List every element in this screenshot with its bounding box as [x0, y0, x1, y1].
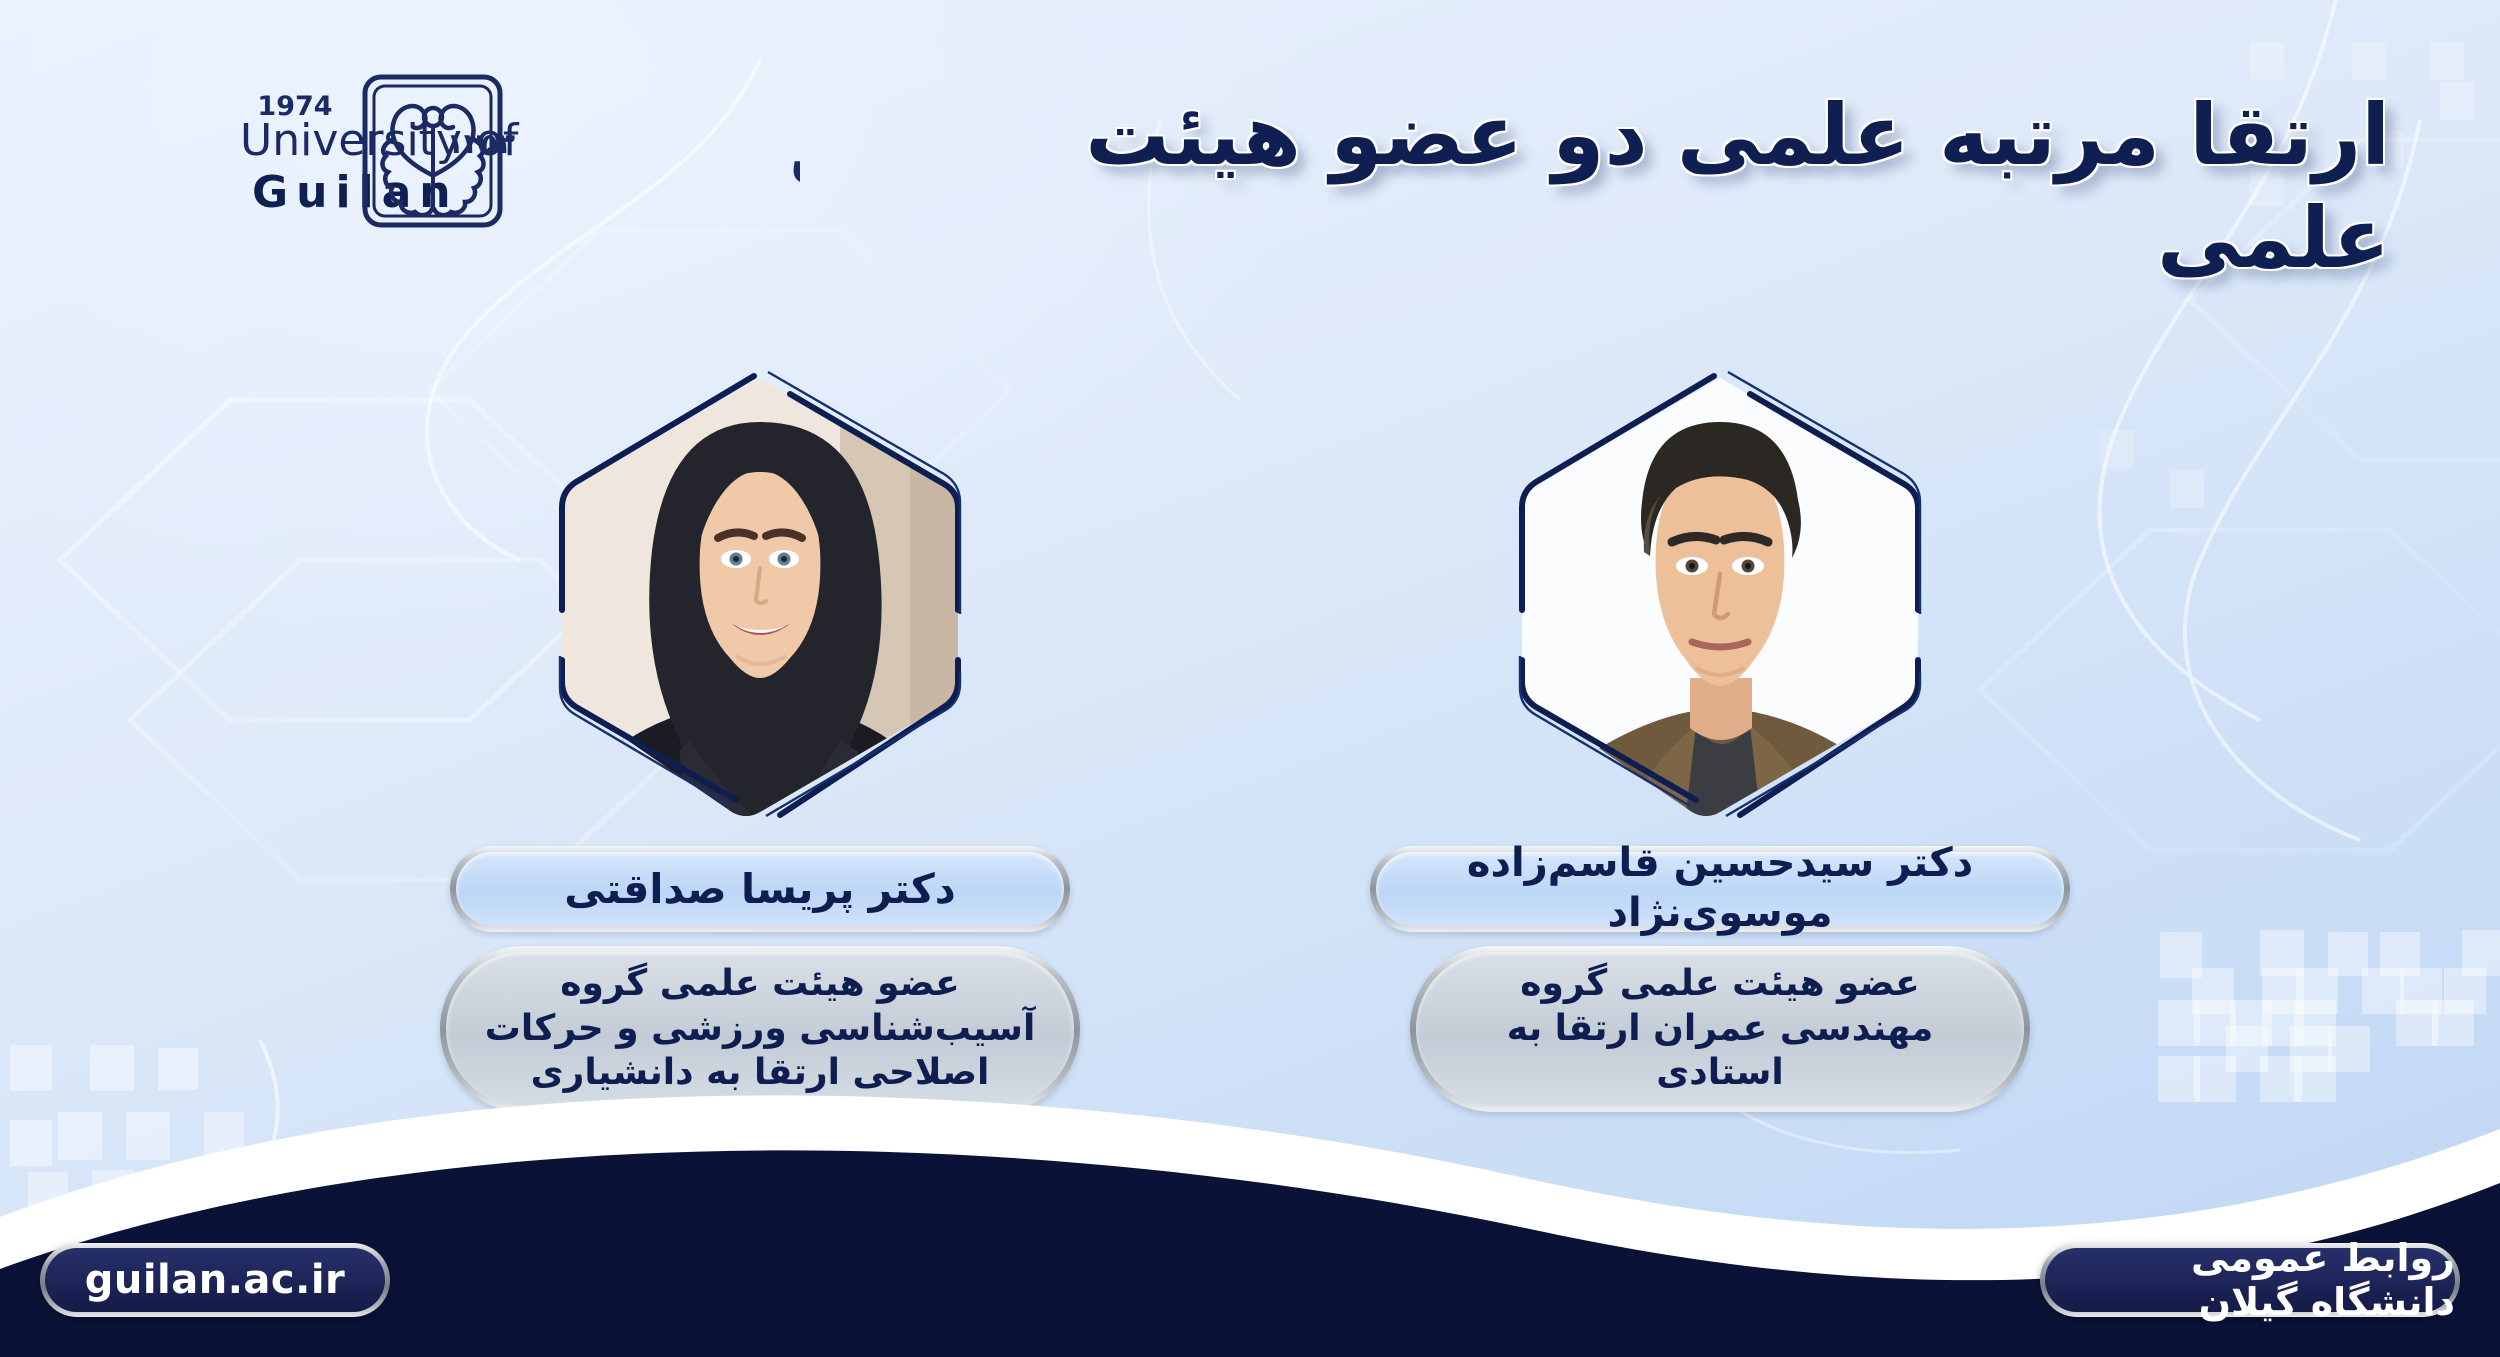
website-label: guilan.ac.ir — [45, 1248, 385, 1312]
person-name-badge-2: دکتر سیدحسین قاسم‌زاده موسوی‌نژاد — [1370, 846, 2070, 932]
hex-photo-frame-2 — [1500, 360, 1940, 830]
hex-frame-border-2 — [1500, 360, 1940, 830]
page-title: ارتقا مرتبه علمی دو عضو هیئت علمی — [1070, 84, 2390, 289]
website-pill[interactable]: guilan.ac.ir — [40, 1243, 390, 1317]
person-name-badge-1: دکتر پریسا صداقتی — [450, 846, 1070, 932]
university-logo: 1974 University of Guilan ۱۳۵۳ دانشگاه گ… — [100, 55, 800, 230]
person-role-2: عضو هیئت علمی گروه مهندسی عمران ارتقا به… — [1416, 952, 2024, 1106]
person-role-badge-1: عضو هیئت علمی گروه آسیب‌شناسی ورزشی و حر… — [440, 946, 1080, 1112]
public-relations-label: روابط عمومی دانشگاه گیلان — [2045, 1248, 2455, 1312]
hex-frame-border-1 — [540, 360, 980, 830]
person-role-1: عضو هیئت علمی گروه آسیب‌شناسی ورزشی و حر… — [446, 952, 1074, 1106]
person-role-badge-2: عضو هیئت علمی گروه مهندسی عمران ارتقا به… — [1410, 946, 2030, 1112]
logo-year-persian: ۱۳۵۳ — [447, 127, 515, 160]
person-card-1: دکتر پریسا صداقتی عضو هیئت علمی گروه آسی… — [380, 360, 1140, 1112]
hex-photo-frame-1 — [540, 360, 980, 830]
person-name-1: دکتر پریسا صداقتی — [456, 852, 1064, 926]
poster-canvas: 1974 University of Guilan ۱۳۵۳ دانشگاه گ… — [0, 0, 2500, 1357]
logo-name-persian: دانشگاه گیلان — [790, 121, 800, 189]
portrait-photo-1 — [540, 360, 980, 830]
person-card-2: دکتر سیدحسین قاسم‌زاده موسوی‌نژاد عضو هی… — [1340, 360, 2100, 1112]
public-relations-pill: روابط عمومی دانشگاه گیلان — [2040, 1243, 2460, 1317]
guilan-logo-svg: 1974 University of Guilan ۱۳۵۳ دانشگاه گ… — [100, 55, 800, 230]
person-name-2: دکتر سیدحسین قاسم‌زاده موسوی‌نژاد — [1376, 852, 2064, 926]
portrait-photo-2 — [1500, 360, 1940, 830]
